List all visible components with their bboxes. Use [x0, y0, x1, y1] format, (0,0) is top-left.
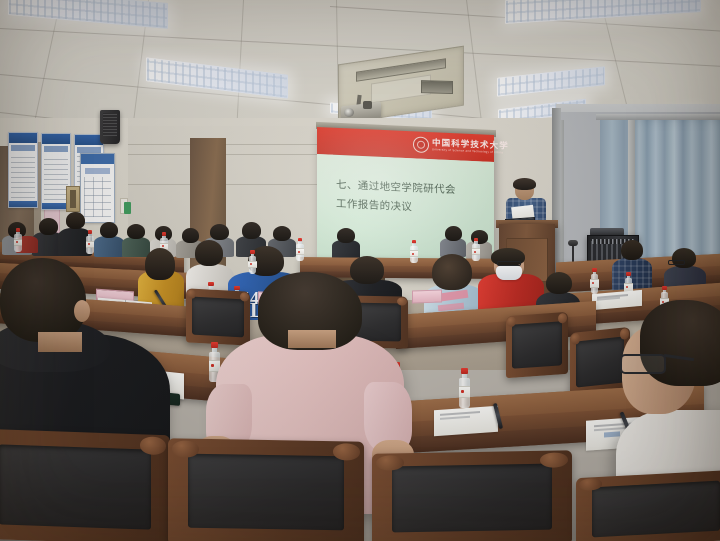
- leather-conference-chair[interactable]: [372, 450, 572, 541]
- panel-light-3: [146, 57, 288, 98]
- attendee-back-center-5: [440, 226, 466, 256]
- slide-text-block: 七、通过地空学院研代会 工作报告的决议: [336, 176, 486, 221]
- leather-conference-chair[interactable]: [506, 312, 568, 378]
- hair: [100, 222, 118, 238]
- ustc-logo: 中国科学技术大学 University of Science and Techn…: [413, 135, 485, 157]
- hair: [0, 258, 86, 342]
- eyeglasses-icon: [497, 261, 521, 266]
- hair: [195, 240, 223, 266]
- hair: [127, 224, 145, 239]
- hair: [39, 218, 58, 235]
- face-mask: [496, 266, 522, 280]
- hair: [210, 224, 229, 240]
- neck: [288, 330, 336, 348]
- curtain-rail: [596, 114, 720, 120]
- torso: [94, 236, 124, 257]
- hair: [273, 226, 291, 241]
- ustc-seal-icon: [413, 136, 429, 153]
- meeting-room-photograph: 中国科学技术大学 University of Science and Techn…: [0, 0, 720, 541]
- exit-sign-icon: [124, 202, 131, 214]
- leather-conference-chair[interactable]: [168, 438, 364, 541]
- leather-conference-chair[interactable]: [0, 429, 170, 541]
- hair: [621, 240, 643, 260]
- eyeglasses-icon: [668, 260, 685, 265]
- attendee-blue-shirt-back: [94, 222, 124, 256]
- attendee-back-center-4: [332, 228, 360, 258]
- water-bottle[interactable]: [590, 268, 599, 294]
- fire-sprinkler-icon: [147, 62, 154, 71]
- wall-poster-1: [8, 132, 38, 208]
- ear: [74, 300, 90, 322]
- panel-light-2: [505, 0, 701, 24]
- water-bottle[interactable]: [410, 240, 418, 263]
- hair: [242, 222, 261, 239]
- hair: [672, 248, 696, 268]
- hair: [337, 228, 355, 243]
- hair: [66, 212, 85, 229]
- water-bottle[interactable]: [248, 250, 257, 274]
- water-bottle[interactable]: [86, 230, 94, 254]
- water-bottle[interactable]: [458, 368, 471, 408]
- hair: [546, 272, 572, 294]
- eyeglasses-icon: [620, 354, 666, 374]
- panel-light-1: [8, 0, 168, 29]
- neck: [38, 332, 82, 352]
- panel-light-4: [497, 66, 605, 96]
- hair: [445, 226, 462, 241]
- microphone-icon: [568, 240, 578, 246]
- water-bottle[interactable]: [14, 228, 22, 252]
- leather-conference-chair[interactable]: [576, 470, 720, 541]
- meeting-document[interactable]: [434, 406, 498, 436]
- curly-hair: [432, 254, 472, 290]
- wall-plaque: [66, 186, 80, 212]
- wall-speaker: [100, 110, 120, 144]
- fire-sprinkler-icon: [599, 86, 606, 95]
- fire-sprinkler-icon: [242, 100, 249, 109]
- speaker-hair: [513, 178, 536, 190]
